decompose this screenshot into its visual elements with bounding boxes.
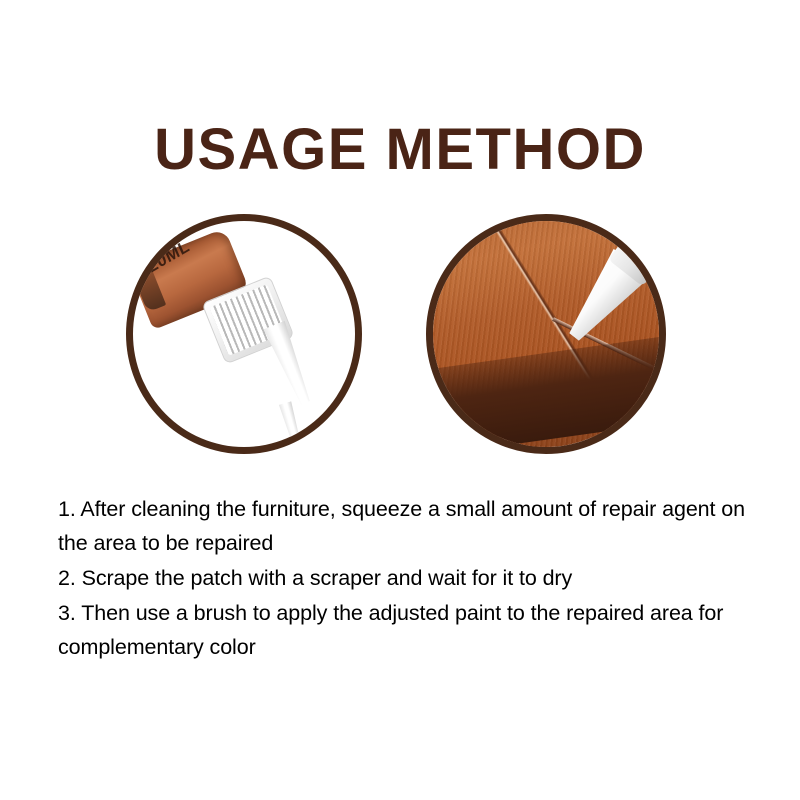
instruction-list: 1. After cleaning the furniture, squeeze… bbox=[58, 492, 758, 665]
figure-product-tube: 20ML bbox=[126, 214, 362, 454]
instruction-step-3: 3. Then use a brush to apply the adjuste… bbox=[58, 596, 758, 664]
instruction-step-1: 1. After cleaning the furniture, squeeze… bbox=[58, 492, 758, 560]
instruction-step-2: 2. Scrape the patch with a scraper and w… bbox=[58, 561, 758, 595]
usage-method-page: USAGE METHOD 20ML 1. After cleaning the … bbox=[0, 0, 800, 800]
tube-illustration: 20ML bbox=[133, 221, 355, 447]
figure-wood-repair bbox=[426, 214, 666, 454]
page-title: USAGE METHOD bbox=[0, 118, 800, 182]
